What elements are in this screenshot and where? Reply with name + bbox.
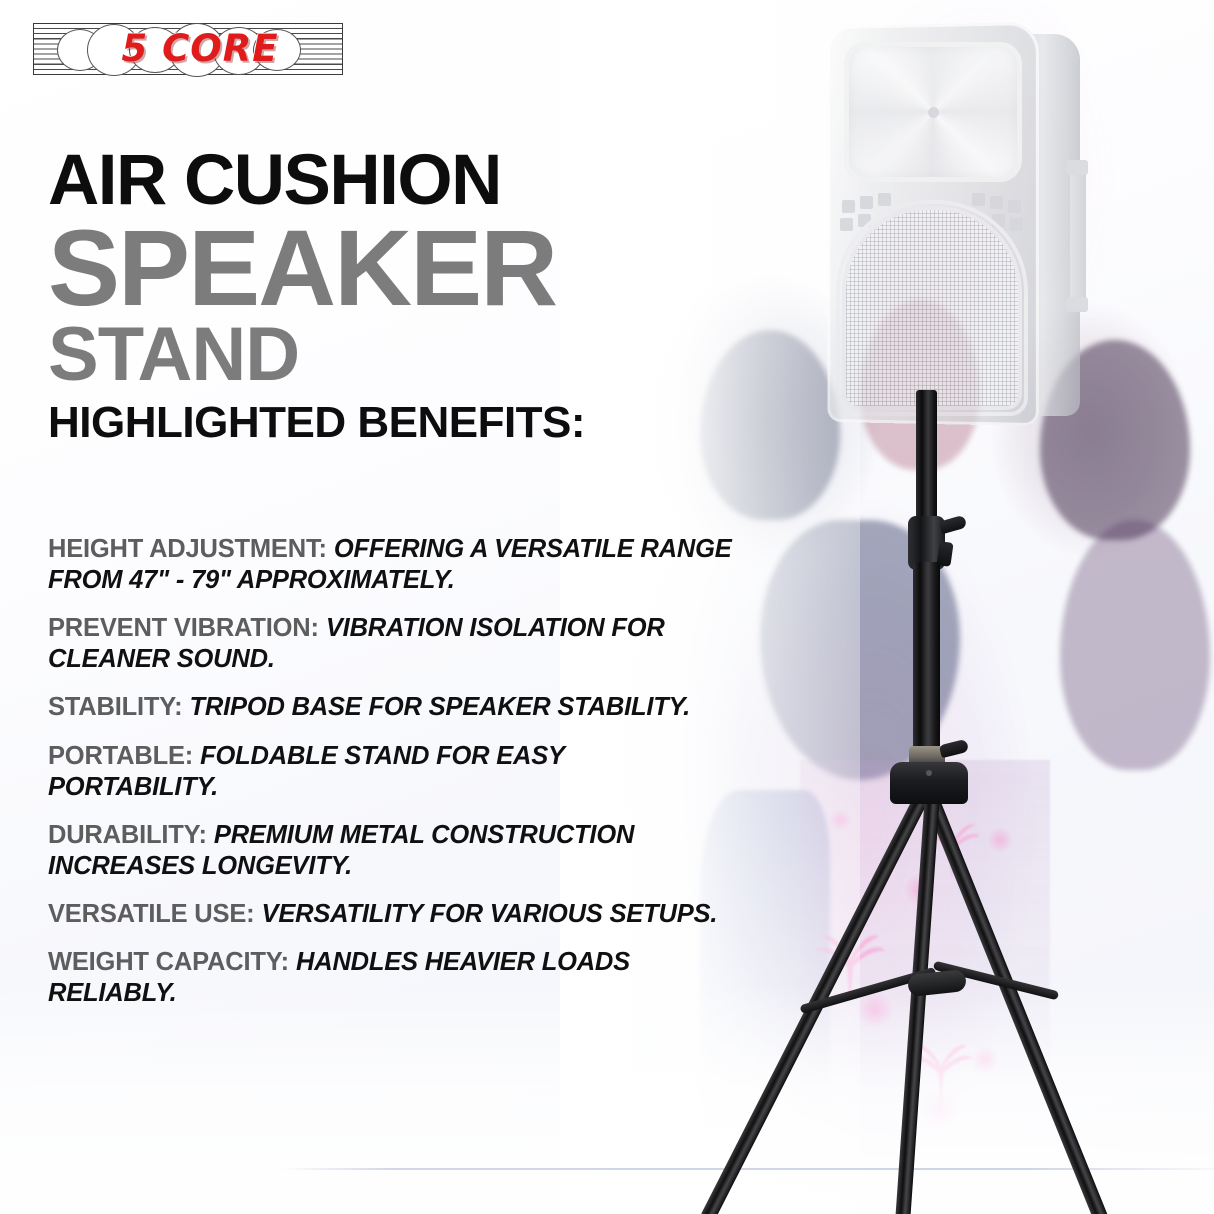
benefit-text: TRIPOD BASE FOR SPEAKER STABILITY. — [190, 693, 690, 721]
brand-logo-text: 5 CORE — [85, 27, 315, 71]
headline-line-2: SPEAKER — [48, 218, 748, 317]
benefit-text: VERSATILITY FOR VARIOUS SETUPS. — [262, 900, 718, 928]
base-lock-knob — [939, 739, 969, 758]
lower-pole — [913, 562, 940, 760]
benefit-item: HEIGHT ADJUSTMENT: OFFERING A VERSATILE … — [48, 534, 738, 596]
speaker-cabinet-image — [818, 24, 1090, 434]
tripod-hub — [890, 762, 968, 804]
benefit-label: HEIGHT ADJUSTMENT: — [48, 535, 327, 563]
benefit-item: STABILITY: TRIPOD BASE FOR SPEAKER STABI… — [48, 692, 738, 723]
headline-line-3: STAND — [48, 319, 748, 390]
benefit-label: PREVENT VIBRATION: — [48, 614, 319, 642]
tripod-stand-image — [700, 390, 1100, 1170]
headline-block: AIR CUSHION SPEAKER STAND HIGHLIGHTED BE… — [48, 148, 748, 445]
headline-line-1: AIR CUSHION — [48, 148, 748, 214]
benefit-item: PREVENT VIBRATION: VIBRATION ISOLATION F… — [48, 613, 738, 675]
brand-logo: 5 CORE — [33, 23, 343, 75]
benefit-label: STABILITY: — [48, 693, 182, 721]
benefit-label: VERSATILE USE: — [48, 900, 254, 928]
benefit-item: PORTABLE: FOLDABLE STAND FOR EASY PORTAB… — [48, 741, 738, 803]
tripod-leg-right — [923, 791, 1113, 1214]
benefits-subtitle: HIGHLIGHTED BENEFITS: — [48, 401, 748, 445]
brace-hub — [907, 969, 967, 997]
benefit-item: DURABILITY: PREMIUM METAL CONSTRUCTION I… — [48, 820, 738, 882]
benefit-label: WEIGHT CAPACITY: — [48, 948, 289, 976]
infographic-canvas: 5 CORE AIR CUSHION SPEAKER STAND HIGHLIG… — [0, 0, 1214, 1214]
benefit-item: WEIGHT CAPACITY: HANDLES HEAVIER LOADS R… — [48, 947, 738, 1009]
upper-pole — [916, 390, 937, 532]
benefit-label: PORTABLE: — [48, 742, 193, 770]
grille-rim — [836, 200, 1028, 416]
speaker-side-handle — [1070, 172, 1086, 300]
benefits-list: HEIGHT ADJUSTMENT: OFFERING A VERSATILE … — [48, 534, 738, 1026]
horn-tweeter-icon — [844, 42, 1022, 182]
height-adjust-knob — [939, 515, 968, 535]
benefit-label: DURABILITY: — [48, 821, 207, 849]
benefit-item: VERSATILE USE: VERSATILITY FOR VARIOUS S… — [48, 899, 738, 930]
